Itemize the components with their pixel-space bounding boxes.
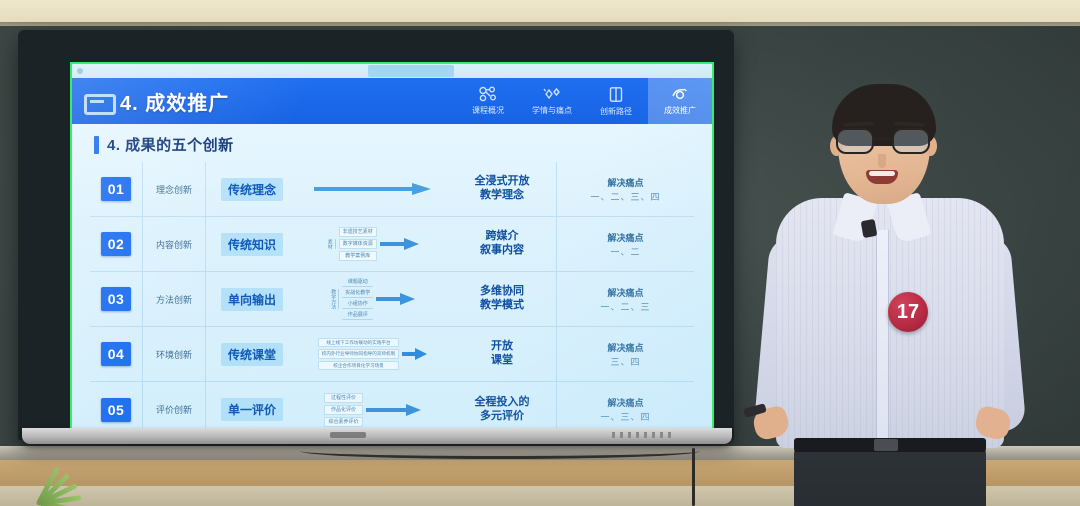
row-number-cell: 02 <box>90 232 142 256</box>
painpoint-numbers: 一、二 <box>610 245 640 258</box>
row-number-cell: 04 <box>90 342 142 366</box>
row-painpoint-cell: 解决痛点 一、二、三 <box>556 272 694 326</box>
tab-learning-situation-painpoints[interactable]: 学情与痛点 <box>520 78 584 124</box>
row-detail-item: 作品展评 <box>342 311 373 320</box>
painpoint-label: 解决痛点 <box>607 176 643 189</box>
row-to-cell: 多维协同 教学模式 <box>448 285 556 313</box>
tab-effect-promotion[interactable]: 成效推广 <box>648 78 712 124</box>
tab-label: 成效推广 <box>664 105 696 116</box>
row-detail-item: 过程性评价 <box>324 393 362 403</box>
arrow-right-icon <box>366 403 422 417</box>
row-detail-side-label: 素材 <box>326 239 336 249</box>
table-row: 02 内容创新 传统知识 素材 非遗技艺素材 数字媒体资源 教学案例库 <box>90 217 694 272</box>
row-detail-cell: 教学方法 课题驱动 实战化教学 小组协作 作品展评 <box>298 272 448 326</box>
display-ports <box>612 432 672 438</box>
row-kind: 环境创新 <box>142 327 206 381</box>
row-from-chip: 单一评价 <box>221 398 283 421</box>
tab-label: 创新路径 <box>600 106 632 117</box>
potted-plant <box>6 452 92 506</box>
interactive-display[interactable]: 4. 成效推广 课程概况 <box>18 30 734 440</box>
row-from-chip: 传统理念 <box>221 178 283 201</box>
row-number-badge: 04 <box>101 342 131 366</box>
row-to-line2: 教学理念 <box>448 189 556 203</box>
arrow-right-icon <box>376 292 416 306</box>
row-from-chip: 传统知识 <box>221 233 283 256</box>
presenter-shirt-placket <box>876 230 889 446</box>
innovation-table: 01 理念创新 传统理念 <box>90 162 694 437</box>
row-from-cell: 传统知识 <box>206 233 298 256</box>
row-detail-item: 校内外行业导师协同指导的双师机制 <box>318 349 400 359</box>
screen-area[interactable]: 4. 成效推广 课程概况 <box>72 64 712 440</box>
row-to-line1: 全程投入的 <box>448 396 556 410</box>
tab-course-overview[interactable]: 课程概况 <box>456 78 520 124</box>
row-detail-cell: 素材 非遗技艺素材 数字媒体资源 教学案例库 <box>298 217 448 271</box>
row-detail-item: 作品化评价 <box>324 405 362 415</box>
presentation-slide: 4. 成效推广 课程概况 <box>72 78 712 440</box>
presenter-nose <box>878 154 886 168</box>
row-detail-cell: 线上线下工作坊联动的实践平台 校内外行业导师协同指导的双师机制 校企合作项目化学… <box>298 327 448 381</box>
row-to-line2: 多元评价 <box>448 410 556 424</box>
row-detail-item: 教学案例库 <box>339 251 377 261</box>
row-from-cell: 传统课堂 <box>206 343 298 366</box>
section-accent-bar <box>94 136 99 154</box>
row-detail-item: 实战化教学 <box>342 289 373 298</box>
row-number-badge: 05 <box>101 398 131 422</box>
painpoint-label: 解决痛点 <box>607 231 643 244</box>
slide-nav-tabs[interactable]: 课程概况 学情与痛点 <box>456 78 712 124</box>
painpoint-label: 解决痛点 <box>607 341 643 354</box>
presenter-belt-buckle <box>874 439 898 451</box>
sparkle-icon <box>541 86 563 102</box>
section-title: 4. 成果的五个创新 <box>94 134 234 155</box>
table-row: 01 理念创新 传统理念 <box>90 162 694 217</box>
classroom-scene: 4. 成效推广 课程概况 <box>0 0 1080 506</box>
row-detail-item: 课题驱动 <box>342 278 373 287</box>
display-cable-loop <box>300 443 700 459</box>
nodes-icon <box>478 86 498 102</box>
promote-icon <box>671 86 689 102</box>
row-to-line1: 开放 <box>448 340 556 354</box>
slide-title: 4. 成效推广 <box>120 87 229 116</box>
row-to-cell: 全程投入的 多元评价 <box>448 396 556 424</box>
painpoint-numbers: 一、二、三、四 <box>590 190 660 203</box>
row-to-line2: 教学模式 <box>448 299 556 313</box>
table-row: 03 方法创新 单向输出 教学方法 课题驱动 实战化教学 小组协作 <box>90 272 694 327</box>
row-detail-list: 过程性评价 作品化评价 综合素养评价 <box>324 393 362 427</box>
row-detail-item: 小组协作 <box>342 300 373 309</box>
row-number-badge: 01 <box>101 177 131 201</box>
row-to-line1: 全浸式开放 <box>448 175 556 189</box>
window-app-icon <box>77 68 83 74</box>
presenter-number-badge: 17 <box>888 292 928 332</box>
painpoint-label: 解决痛点 <box>607 396 643 409</box>
row-detail-item: 线上线下工作坊联动的实践平台 <box>318 338 400 348</box>
row-number-cell: 01 <box>90 177 142 201</box>
display-brand-logo <box>330 432 366 438</box>
row-kind: 内容创新 <box>142 217 206 271</box>
active-window-tab[interactable] <box>368 65 454 77</box>
row-from-cell: 单向输出 <box>206 288 298 311</box>
row-from-chip: 传统课堂 <box>221 343 283 366</box>
row-detail-list: 非遗技艺素材 数字媒体资源 教学案例库 <box>339 227 377 261</box>
painpoint-numbers: 三、四 <box>610 355 640 368</box>
row-number-cell: 05 <box>90 398 142 422</box>
row-detail-cell <box>298 162 448 216</box>
row-detail-list: 课题驱动 实战化教学 小组协作 作品展评 <box>342 278 373 320</box>
row-to-line1: 跨媒介 <box>448 230 556 244</box>
row-detail-side-label: 教学方法 <box>330 289 340 309</box>
arrow-right-icon <box>314 182 432 196</box>
painpoint-numbers: 一、三、四 <box>600 410 650 423</box>
row-to-cell: 全浸式开放 教学理念 <box>448 175 556 203</box>
row-number-badge: 03 <box>101 287 131 311</box>
presenter-shirt <box>776 198 1004 448</box>
glasses-icon <box>834 128 934 154</box>
row-detail-item: 非遗技艺素材 <box>339 227 377 237</box>
row-painpoint-cell: 解决痛点 一、二 <box>556 217 694 271</box>
row-detail-item: 数字媒体资源 <box>339 239 377 249</box>
painpoint-numbers: 一、二、三 <box>600 300 650 313</box>
row-to-line2: 叙事内容 <box>448 244 556 258</box>
row-number-badge: 02 <box>101 232 131 256</box>
tab-label: 课程概况 <box>472 105 504 116</box>
tab-innovation-path[interactable]: 创新路径 <box>584 78 648 124</box>
row-painpoint-cell: 解决痛点 一、二、三、四 <box>556 162 694 216</box>
row-detail-list: 线上线下工作坊联动的实践平台 校内外行业导师协同指导的双师机制 校企合作项目化学… <box>318 338 400 371</box>
presentation-board-icon <box>84 91 110 111</box>
arrow-right-icon <box>402 347 428 361</box>
row-detail-item: 综合素养评价 <box>324 417 362 427</box>
row-kind: 方法创新 <box>142 272 206 326</box>
row-to-cell: 开放 课堂 <box>448 340 556 368</box>
row-kind: 理念创新 <box>142 162 206 216</box>
row-from-chip: 单向输出 <box>221 288 283 311</box>
lapel-microphone-icon <box>861 219 878 238</box>
tab-label: 学情与痛点 <box>532 105 572 116</box>
power-cable <box>692 448 695 506</box>
row-from-cell: 传统理念 <box>206 178 298 201</box>
arrow-right-icon <box>380 237 420 251</box>
window-title-bar <box>72 64 712 78</box>
row-from-cell: 单一评价 <box>206 398 298 421</box>
row-painpoint-cell: 解决痛点 三、四 <box>556 327 694 381</box>
presenter: 17 <box>742 70 1042 506</box>
book-icon <box>608 86 624 103</box>
table-row: 04 环境创新 传统课堂 线上线下工作坊联动的实践平台 校内外行业导师协同指导的… <box>90 327 694 382</box>
row-number-cell: 03 <box>90 287 142 311</box>
presenter-mouth <box>866 170 898 184</box>
slide-header-bar: 4. 成效推广 课程概况 <box>72 78 712 124</box>
row-to-cell: 跨媒介 叙事内容 <box>448 230 556 258</box>
row-to-line2: 课堂 <box>448 354 556 368</box>
painpoint-label: 解决痛点 <box>607 286 643 299</box>
section-title-text: 4. 成果的五个创新 <box>107 134 234 155</box>
row-detail-item: 校企合作项目化学习场景 <box>318 361 400 371</box>
row-to-line1: 多维协同 <box>448 285 556 299</box>
